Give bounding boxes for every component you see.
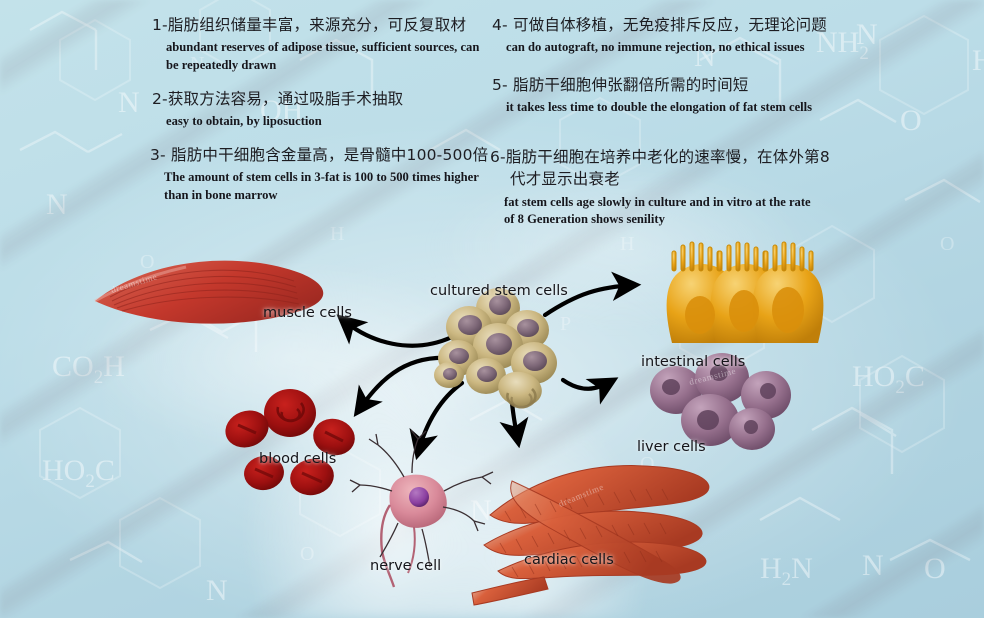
- stem-cell-differentiation-diagram: dreamstime: [0, 215, 984, 618]
- bullet-1-english-line-1: abundant reserves of adipose tissue, suf…: [166, 39, 479, 56]
- bullet-4-english: can do autograft, no immune rejection, n…: [506, 39, 827, 56]
- bullet-5-english-line-1: it takes less time to double the elongat…: [506, 99, 812, 116]
- bullet-item-1: 1-脂肪组织储量丰富，来源充分，可反复取材 abundant reserves …: [152, 14, 479, 74]
- label-cardiac-cells: cardiac cells: [524, 552, 614, 568]
- label-blood-cells: blood cells: [259, 451, 336, 467]
- bullet-3-english: The amount of stem cells in 3-fat is 100…: [164, 169, 488, 204]
- label-liver-cells: liver cells: [637, 439, 706, 455]
- bullet-6-chinese-line-2: 代才显示出衰老: [510, 168, 830, 190]
- bullet-1-english-line-2: be repeatedly drawn: [166, 57, 479, 74]
- intestinal-cells-illustration: [667, 242, 824, 343]
- bullet-2-english: easy to obtain, by liposuction: [166, 113, 403, 130]
- bullet-item-4: 4- 可做自体移植，无免疫排斥反应，无理论问题 can do autograft…: [492, 14, 827, 57]
- cardiac-cells-illustration: dreamstime: [472, 466, 709, 605]
- bullet-5-english: it takes less time to double the elongat…: [506, 99, 812, 116]
- bullet-5-chinese: 5- 脂肪干细胞伸张翻倍所需的时间短: [492, 74, 812, 96]
- bullet-item-5: 5- 脂肪干细胞伸张翻倍所需的时间短 it takes less time to…: [492, 74, 812, 117]
- bullet-4-chinese: 4- 可做自体移植，无免疫排斥反应，无理论问题: [492, 14, 827, 36]
- bullet-1-english: abundant reserves of adipose tissue, suf…: [166, 39, 479, 74]
- bullet-6-chinese: 6-脂肪干细胞在培养中老化的速率慢，在体外第8: [490, 146, 830, 168]
- bullet-1-chinese: 1-脂肪组织储量丰富，来源充分，可反复取材: [152, 14, 479, 36]
- arrow-to-muscle-cells: [342, 319, 452, 346]
- label-cultured-stem-cells: cultured stem cells: [430, 283, 568, 299]
- label-muscle-cells: muscle cells: [263, 305, 352, 321]
- arrow-to-nerve-cell: [418, 383, 462, 453]
- arrow-to-blood-cells: [358, 358, 450, 411]
- bullet-4-english-line-1: can do autograft, no immune rejection, n…: [506, 39, 827, 56]
- slide-canvas: CO2H HO2C HO2C NH2 H2N N O O H N N N N O…: [0, 0, 984, 618]
- bullet-6-english-line-1: fat stem cells age slowly in culture and…: [504, 194, 830, 211]
- bullet-2-chinese: 2-获取方法容易，通过吸脂手术抽取: [152, 88, 403, 110]
- bullet-3-chinese: 3- 脂肪中干细胞含金量高，是骨髓中100-500倍: [150, 144, 488, 166]
- bullet-2-english-line-1: easy to obtain, by liposuction: [166, 113, 403, 130]
- blood-cells-illustration: [220, 389, 359, 499]
- bullet-item-3: 3- 脂肪中干细胞含金量高，是骨髓中100-500倍 The amount of…: [150, 144, 488, 204]
- bullet-3-english-line-1: The amount of stem cells in 3-fat is 100…: [164, 169, 488, 186]
- arrow-to-liver-cells: [563, 380, 612, 389]
- bullet-list: 1-脂肪组织储量丰富，来源充分，可反复取材 abundant reserves …: [0, 0, 984, 226]
- bullet-item-2: 2-获取方法容易，通过吸脂手术抽取 easy to obtain, by lip…: [152, 88, 403, 131]
- label-nerve-cell: nerve cell: [370, 558, 441, 574]
- bullet-3-english-line-2: than in bone marrow: [164, 187, 488, 204]
- label-intestinal-cells: intestinal cells: [641, 354, 745, 370]
